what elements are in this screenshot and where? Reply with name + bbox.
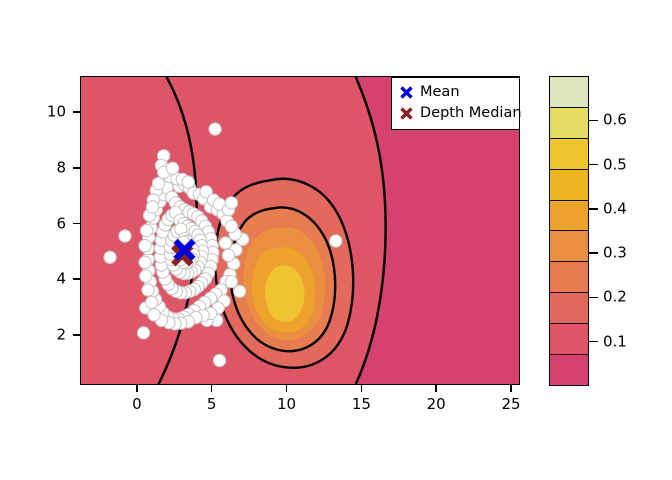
x-tick-mark <box>211 385 213 392</box>
colorbar-tick-mark <box>589 120 598 122</box>
colorbar-tick-mark <box>589 252 598 254</box>
y-tick-mark <box>73 167 80 169</box>
y-tick-mark <box>73 278 80 280</box>
y-tick-label: 6 <box>32 216 66 231</box>
y-tick-mark <box>73 223 80 225</box>
x-tick-mark <box>286 385 288 392</box>
depth-median-x-icon <box>398 105 415 122</box>
x-tick-mark <box>361 385 363 392</box>
x-tick-mark <box>510 385 512 392</box>
colorbar-tick-mark <box>589 208 598 210</box>
legend-item-mean: Mean <box>398 82 514 103</box>
y-tick-label: 2 <box>32 327 66 342</box>
y-tick-mark <box>73 111 80 113</box>
colorbar-tick-label: 0.5 <box>603 157 627 172</box>
colorbar-band <box>550 292 588 323</box>
colorbar-band <box>550 138 588 169</box>
colorbar-tick-label: 0.4 <box>603 201 627 216</box>
colorbar-band <box>550 230 588 261</box>
x-tick-label: 15 <box>352 397 371 412</box>
x-tick-label: 0 <box>132 397 142 412</box>
colorbar-tick-mark <box>589 164 598 166</box>
legend-label-mean: Mean <box>420 85 460 100</box>
colorbar-axis: 0.10.20.30.40.50.6 <box>589 76 669 386</box>
y-tick-label: 8 <box>32 160 66 175</box>
mean-x-icon <box>398 84 415 101</box>
x-tick-mark <box>136 385 138 392</box>
colorbar-tick-mark <box>589 341 598 343</box>
colorbar-tick-label: 0.3 <box>603 246 627 261</box>
colorbar-tick-label: 0.2 <box>603 290 627 305</box>
colorbar-band <box>550 323 588 354</box>
x-tick-label: 25 <box>501 397 520 412</box>
legend-label-depth-median: Depth Median <box>420 106 522 121</box>
colorbar-band <box>550 261 588 292</box>
colorbar-band <box>550 354 588 385</box>
x-tick-label: 20 <box>427 397 446 412</box>
colorbar-tick-label: 0.1 <box>603 334 627 349</box>
x-tick-mark <box>435 385 437 392</box>
y-tick-label: 4 <box>32 272 66 287</box>
x-tick-label: 5 <box>207 397 217 412</box>
legend-item-depth-median: Depth Median <box>398 103 514 124</box>
colorbar <box>549 76 589 386</box>
colorbar-band <box>550 200 588 231</box>
colorbar-band <box>550 77 588 107</box>
figure-canvas: 0510152025 246810 Mean Depth Median 0.10… <box>0 0 672 480</box>
colorbar-tick-mark <box>589 297 598 299</box>
y-tick-mark <box>73 334 80 336</box>
y-tick-label: 10 <box>32 105 66 120</box>
colorbar-tick-label: 0.6 <box>603 113 627 128</box>
colorbar-band <box>550 107 588 138</box>
plot-legend: Mean Depth Median <box>391 77 520 130</box>
colorbar-band <box>550 169 588 200</box>
x-tick-label: 10 <box>277 397 296 412</box>
